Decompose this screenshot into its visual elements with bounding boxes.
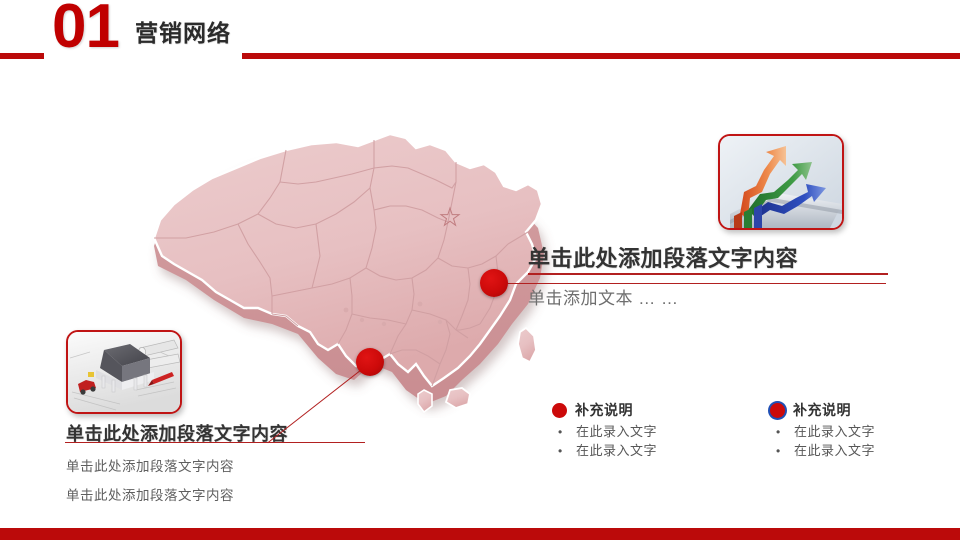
island-taiwan bbox=[518, 328, 536, 362]
bullet-mark-icon: • bbox=[776, 443, 792, 460]
map-marker-south[interactable] bbox=[356, 348, 384, 376]
bullet-dot-red-icon bbox=[552, 403, 567, 418]
bullet-group-2-title: 补充说明 bbox=[793, 400, 851, 420]
section-number: 01 bbox=[52, 0, 119, 58]
right-text-block: 单击此处添加段落文字内容 单击添加文本 … … bbox=[528, 246, 928, 309]
bullet-group-1-title: 补充说明 bbox=[575, 400, 633, 420]
bullet-item-text: 在此录入文字 bbox=[794, 442, 875, 460]
list-item: • 在此录入文字 bbox=[776, 423, 920, 441]
map-marker-east[interactable] bbox=[480, 269, 508, 297]
bullet-groups: 补充说明 • 在此录入文字 • 在此录入文字 补充说明 • 在此录入文字 • bbox=[552, 400, 932, 460]
left-body-line: 单击此处添加段落文字内容 bbox=[66, 484, 406, 504]
architecture-model-photo[interactable] bbox=[66, 330, 182, 414]
bullet-group-2-head: 补充说明 bbox=[770, 400, 920, 420]
right-subtext: 单击添加文本 … … bbox=[528, 284, 928, 309]
list-item: • 在此录入文字 bbox=[558, 423, 702, 441]
right-heading-rule bbox=[528, 273, 888, 274]
bullet-dot-blue-ring-icon bbox=[770, 403, 785, 418]
connector-line-east bbox=[500, 283, 886, 284]
island-south bbox=[418, 390, 432, 412]
bullet-group-1: 补充说明 • 在此录入文字 • 在此录入文字 bbox=[552, 400, 702, 460]
list-item: • 在此录入文字 bbox=[558, 442, 702, 460]
slide-canvas: 01 营销网络 bbox=[0, 0, 960, 540]
left-text-block: 单击此处添加段落文字内容 单击此处添加段落文字内容 单击此处添加段落文字内容 bbox=[66, 420, 406, 504]
bullet-item-text: 在此录入文字 bbox=[576, 442, 657, 460]
left-body-line: 单击此处添加段落文字内容 bbox=[66, 455, 406, 475]
growth-chart-photo[interactable] bbox=[718, 134, 844, 230]
header-title-mask bbox=[130, 46, 242, 60]
footer-red-bar bbox=[0, 528, 960, 540]
bullet-group-2: 补充说明 • 在此录入文字 • 在此录入文字 bbox=[770, 400, 920, 460]
bullet-mark-icon: • bbox=[558, 443, 574, 460]
island-hainan bbox=[446, 388, 470, 408]
list-item: • 在此录入文字 bbox=[776, 442, 920, 460]
bullet-item-text: 在此录入文字 bbox=[576, 423, 657, 441]
bullet-item-text: 在此录入文字 bbox=[794, 423, 875, 441]
bullet-group-1-head: 补充说明 bbox=[552, 400, 702, 420]
bullet-mark-icon: • bbox=[558, 424, 574, 441]
bullet-mark-icon: • bbox=[776, 424, 792, 441]
page-title: 营销网络 bbox=[135, 22, 231, 45]
connector-line-south-horizontal bbox=[65, 442, 365, 443]
right-heading: 单击此处添加段落文字内容 bbox=[528, 246, 928, 271]
